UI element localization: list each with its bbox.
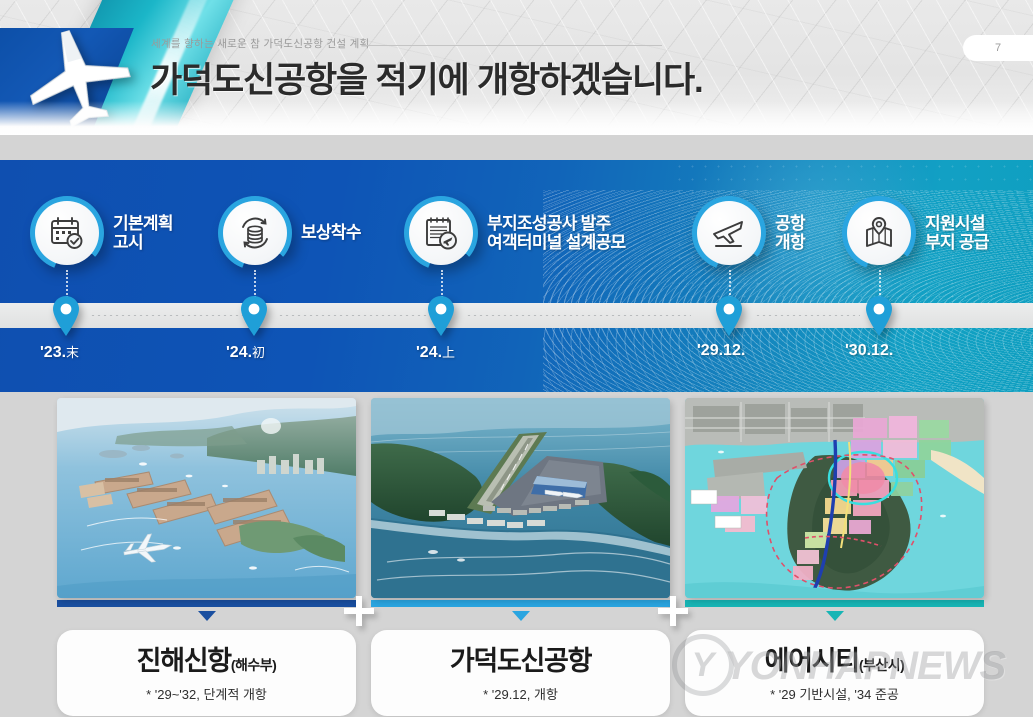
milestone-3[interactable]: 부지조성공사 발주 여객터미널 설계공모 <box>404 196 625 270</box>
axis-date-2-value: '24. <box>226 344 252 361</box>
axis-segment-1 <box>90 314 245 317</box>
project-panel-group: 진해신항(해수부) * '29~'32, 단계적 개항 <box>0 398 1033 717</box>
project-2-accent-bar <box>371 600 670 607</box>
milestone-1[interactable]: 기본계획 고시 <box>30 196 173 270</box>
axis-pin-5[interactable] <box>866 296 892 336</box>
aerial-port-rendering-graphic <box>57 398 356 598</box>
axis-date-3-value: '24. <box>416 344 442 361</box>
project-1-caption: 진해신항(해수부) * '29~'32, 단계적 개항 <box>57 630 356 716</box>
slide-root: 세계를 향하는 새로운 참 가덕도신공항 건설 계획 가덕도신공항을 적기에 개… <box>0 0 1033 717</box>
page-number-badge: 7 <box>963 35 1033 61</box>
calendar-check-icon <box>47 213 87 253</box>
axis-pin-4[interactable] <box>716 296 742 336</box>
project-panel-2: 가덕도신공항 * '29.12, 개항 <box>371 398 670 607</box>
milestone-4-ring <box>692 196 766 270</box>
project-3-title-suffix: (부산시) <box>859 657 904 673</box>
milestone-5-label: 지원시설 부지 공급 <box>925 214 989 252</box>
header-divider-rule <box>362 45 662 46</box>
axis-date-1-value: '23. <box>40 344 66 361</box>
axis-date-2: '24.初 <box>226 342 265 362</box>
axis-segment-3 <box>466 314 691 317</box>
axis-segment-2 <box>278 314 433 317</box>
project-2-note: * '29.12, 개항 <box>483 684 558 703</box>
milestone-4[interactable]: 공항 개항 <box>692 196 805 270</box>
milestone-1-label: 기본계획 고시 <box>113 214 173 252</box>
header-bottom-fade <box>0 101 1033 135</box>
axis-pin-3[interactable] <box>428 296 454 336</box>
milestone-2-label: 보상착수 <box>301 223 361 242</box>
milestone-3-ring <box>404 196 478 270</box>
stem-1 <box>66 270 68 298</box>
project-1-note: * '29~'32, 단계적 개항 <box>146 684 267 703</box>
project-1-accent-bar <box>57 600 356 607</box>
axis-date-2-cjk: 初 <box>252 345 265 360</box>
stem-2 <box>254 270 256 298</box>
milestone-2[interactable]: 보상착수 <box>218 196 361 270</box>
land-use-plan-map-graphic <box>685 398 984 598</box>
milestone-4-label: 공항 개항 <box>775 214 805 252</box>
axis-date-5: '30.12. <box>845 342 893 360</box>
project-2-title-row: 가덕도신공항 <box>450 648 591 675</box>
page-title: 가덕도신공항을 적기에 개항하겠습니다. <box>150 52 703 103</box>
plane-takeoff-icon <box>709 213 749 253</box>
coins-cycle-icon <box>235 213 275 253</box>
milestone-1-ring <box>30 196 104 270</box>
project-1-title: 진해신항 <box>137 646 231 676</box>
project-2-title: 가덕도신공항 <box>450 646 591 676</box>
axis-date-3: '24.上 <box>416 342 455 362</box>
slide-header: 세계를 향하는 새로운 참 가덕도신공항 건설 계획 가덕도신공항을 적기에 개… <box>0 0 1033 135</box>
clipboard-plane-icon <box>421 213 461 253</box>
project-3-title: 에어시티 <box>765 646 859 676</box>
stem-3 <box>441 270 443 298</box>
project-3-title-row: 에어시티(부산시) <box>765 648 905 675</box>
axis-date-1: '23.末 <box>40 342 79 362</box>
milestone-2-ring <box>218 196 292 270</box>
axis-date-4-value: '29.12. <box>697 342 745 359</box>
project-2-image <box>371 398 670 598</box>
project-2-arrow-down <box>512 611 530 621</box>
axis-pin-1[interactable] <box>53 296 79 336</box>
project-1-arrow-down <box>198 611 216 621</box>
project-3-note: * '29 기반시설, '34 준공 <box>770 684 899 703</box>
axis-segment-4 <box>755 314 860 317</box>
stem-4 <box>729 270 731 298</box>
header-subtitle: 세계를 향하는 새로운 참 가덕도신공항 건설 계획 <box>151 36 370 51</box>
milestone-3-label: 부지조성공사 발주 여객터미널 설계공모 <box>487 214 625 252</box>
project-3-arrow-down <box>826 611 844 621</box>
project-1-title-suffix: (해수부) <box>231 657 276 673</box>
project-3-image <box>685 398 984 598</box>
stem-5 <box>879 270 881 298</box>
axis-pin-2[interactable] <box>241 296 267 336</box>
project-3-accent-bar <box>685 600 984 607</box>
project-panel-1: 진해신항(해수부) * '29~'32, 단계적 개항 <box>57 398 356 607</box>
axis-date-1-cjk: 末 <box>66 345 79 360</box>
project-1-title-row: 진해신항(해수부) <box>137 648 277 675</box>
milestone-5-ring <box>842 196 916 270</box>
project-1-image <box>57 398 356 598</box>
project-2-caption: 가덕도신공항 * '29.12, 개항 <box>371 630 670 716</box>
axis-date-4: '29.12. <box>697 342 745 360</box>
milestone-5[interactable]: 지원시설 부지 공급 <box>842 196 989 270</box>
axis-date-3-cjk: 上 <box>442 345 455 360</box>
map-pin-icon <box>859 213 899 253</box>
project-panel-3: 에어시티(부산시) * '29 기반시설, '34 준공 <box>685 398 984 607</box>
aerial-airport-rendering-graphic <box>371 398 670 598</box>
axis-date-5-value: '30.12. <box>845 342 893 359</box>
timeline-banner: 기본계획 고시 <box>0 160 1033 392</box>
project-3-caption: 에어시티(부산시) * '29 기반시설, '34 준공 <box>685 630 984 716</box>
